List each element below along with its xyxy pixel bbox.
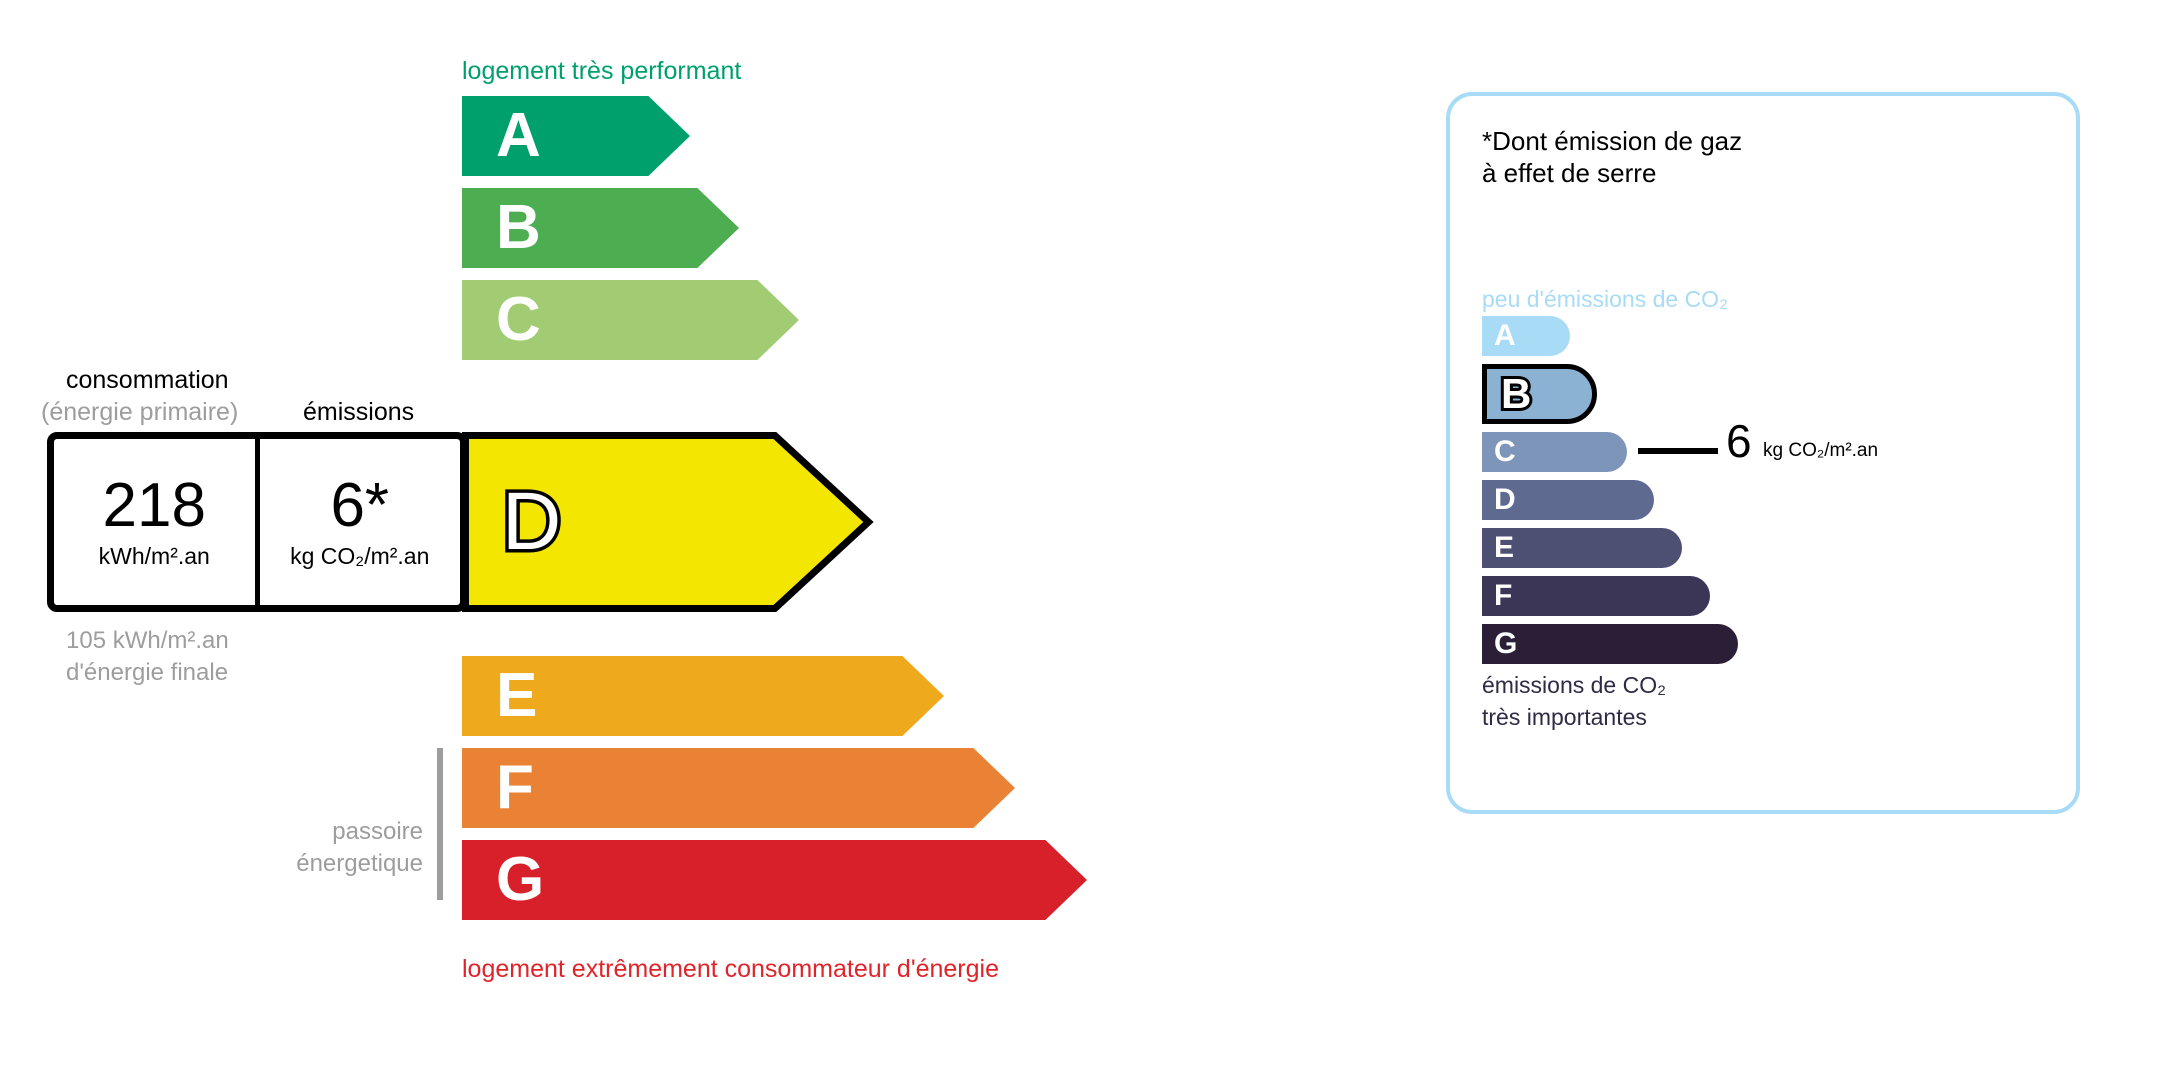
co2-bar-shape-d: D bbox=[1482, 480, 1654, 520]
arrow-shape-b: B bbox=[462, 188, 739, 268]
consumption-value: 218 bbox=[103, 475, 206, 537]
energy-arrow-g: G bbox=[462, 840, 1087, 920]
value-box: 218 kWh/m².an 6* kg CO₂/m².an bbox=[47, 432, 467, 612]
co2-bar-letter-e: E bbox=[1494, 533, 1514, 563]
passoire-label-line2: énergetique bbox=[273, 850, 423, 878]
emissions-label: émissions bbox=[303, 398, 414, 427]
arrow-shape-g: G bbox=[462, 840, 1087, 920]
co2-bar-a: A bbox=[1482, 316, 1570, 356]
passoire-indicator-bar bbox=[437, 748, 443, 900]
energy-top-caption: logement très performant bbox=[462, 57, 741, 86]
co2-top-caption: peu d'émissions de CO₂ bbox=[1482, 286, 1728, 313]
co2-bar-letter-d: D bbox=[1494, 485, 1516, 515]
consumption-label: consommation bbox=[66, 366, 229, 395]
co2-bottom-caption-line2: très importantes bbox=[1482, 704, 1647, 731]
co2-bar-shape-b: B bbox=[1482, 364, 1597, 424]
energy-arrow-e: E bbox=[462, 656, 944, 736]
co2-callout-value: 6 bbox=[1726, 418, 1752, 464]
arrow-shape-e: E bbox=[462, 656, 944, 736]
energy-arrow-d: D bbox=[462, 432, 872, 612]
co2-bottom-caption-line1: émissions de CO₂ bbox=[1482, 672, 1666, 699]
dpe-label: logement très performant ABCDEFG consomm… bbox=[0, 0, 2170, 1079]
co2-bar-shape-f: F bbox=[1482, 576, 1710, 616]
co2-bar-letter-a: A bbox=[1494, 321, 1516, 351]
energy-bottom-caption: logement extrêmement consommateur d'éner… bbox=[462, 955, 999, 984]
final-energy-line1: 105 kWh/m².an bbox=[66, 627, 229, 655]
final-energy-line2: d'énergie finale bbox=[66, 659, 228, 687]
co2-bar-c: C bbox=[1482, 432, 1627, 472]
energy-performance-chart: logement très performant ABCDEFG consomm… bbox=[0, 0, 1400, 1079]
arrow-letter-d: D bbox=[502, 481, 561, 563]
co2-bar-shape-g: G bbox=[1482, 624, 1738, 664]
energy-arrow-a: A bbox=[462, 96, 690, 176]
energy-arrow-c: C bbox=[462, 280, 799, 360]
co2-title-line1: *Dont émission de gaz bbox=[1482, 126, 1742, 157]
co2-bar-e: E bbox=[1482, 528, 1682, 568]
emission-cell: 6* kg CO₂/m².an bbox=[260, 439, 461, 605]
primary-energy-label: (énergie primaire) bbox=[41, 398, 238, 427]
arrow-letter-b: B bbox=[496, 197, 541, 259]
arrow-shape-f: F bbox=[462, 748, 1015, 828]
co2-bar-g: G bbox=[1482, 624, 1738, 664]
co2-bar-shape-a: A bbox=[1482, 316, 1570, 356]
co2-bar-shape-c: C bbox=[1482, 432, 1627, 472]
co2-bar-shape-e: E bbox=[1482, 528, 1682, 568]
co2-bar-letter-b: B bbox=[1501, 373, 1531, 415]
arrow-letter-e: E bbox=[496, 665, 537, 727]
arrow-shape-a: A bbox=[462, 96, 690, 176]
energy-arrow-b: B bbox=[462, 188, 739, 268]
co2-bar-letter-g: G bbox=[1494, 629, 1517, 659]
co2-callout-unit: kg CO₂/m².an bbox=[1763, 440, 1878, 462]
arrow-letter-g: G bbox=[496, 849, 544, 911]
energy-arrow-f: F bbox=[462, 748, 1015, 828]
co2-bar-b: B bbox=[1482, 364, 1597, 424]
emission-unit: kg CO₂/m².an bbox=[290, 543, 429, 570]
co2-title-line2: à effet de serre bbox=[1482, 158, 1656, 189]
co2-bar-d: D bbox=[1482, 480, 1654, 520]
passoire-label-line1: passoire bbox=[313, 818, 423, 846]
co2-emission-panel: *Dont émission de gaz à effet de serre p… bbox=[1446, 92, 2080, 814]
arrow-shape-d: D bbox=[462, 432, 872, 612]
co2-bar-letter-c: C bbox=[1494, 437, 1516, 467]
consumption-cell: 218 kWh/m².an bbox=[54, 439, 260, 605]
arrow-shape-c: C bbox=[462, 280, 799, 360]
consumption-unit: kWh/m².an bbox=[99, 543, 210, 570]
arrow-letter-a: A bbox=[496, 105, 541, 167]
emission-value: 6* bbox=[330, 475, 389, 537]
arrow-letter-f: F bbox=[496, 757, 534, 819]
co2-callout-connector bbox=[1638, 448, 1718, 454]
co2-bar-letter-f: F bbox=[1494, 581, 1512, 611]
co2-bar-f: F bbox=[1482, 576, 1710, 616]
arrow-letter-c: C bbox=[496, 289, 541, 351]
